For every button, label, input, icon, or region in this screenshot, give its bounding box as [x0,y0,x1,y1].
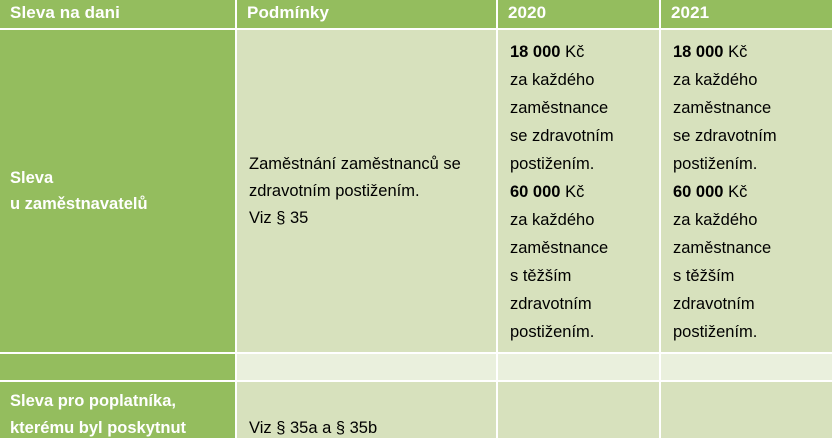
table-row: Sleva u zaměstnavatelů Zaměstnání zaměst… [0,30,832,354]
amount-secondary-desc-line-4: zdravotním [510,290,649,318]
row-label-line-2: u zaměstnavatelů [10,191,225,217]
table-header: Sleva na dani Podmínky 2020 2021 [0,0,832,30]
amount-secondary-desc-line-4: zdravotním [673,290,822,318]
column-header-tax-credit: Sleva na dani [0,0,237,30]
column-header-conditions: Podmínky [237,0,498,30]
amount-unit: Kč [728,43,747,61]
table-row-spacer [0,354,832,382]
amount-secondary-2020: 60 000 Kč [510,178,649,206]
amount-value: 60 000 [510,183,560,201]
amount-value: 18 000 [510,43,560,61]
spacer-cell-2020 [498,354,661,382]
spacer-cell-2021 [661,354,832,382]
cell-amount-2020-empty [498,382,661,438]
row-conditions-investment-incentive: Viz § 35a a § 35b [237,382,498,438]
spacer-cell-conditions [237,354,498,382]
amount-secondary-desc-line-1: za každého [510,206,649,234]
header-row: Sleva na dani Podmínky 2020 2021 [0,0,832,30]
column-header-year-2020: 2020 [498,0,661,30]
amount-primary-desc-line-3: se zdravotním [673,122,822,150]
amount-primary-desc-line-1: za každého [673,66,822,94]
amount-primary-desc-line-4: postižením. [510,150,649,178]
row-conditions-employer-credit: Zaměstnání zaměstnanců se zdravotním pos… [237,30,498,354]
row-label-line-2: kterému byl poskytnut [10,415,225,438]
amount-primary-desc-line-3: se zdravotním [510,122,649,150]
row-label-line-1: Sleva pro poplatníka, [10,388,225,415]
conditions-line-2: zdravotním postižením. [249,178,484,205]
table-body: Sleva u zaměstnavatelů Zaměstnání zaměst… [0,30,832,438]
conditions-line-1: Zaměstnání zaměstnanců se [249,151,484,178]
amount-unit: Kč [565,183,584,201]
conditions-line-3: Viz § 35 [249,205,484,232]
amount-primary-desc-line-1: za každého [510,66,649,94]
table-row: Sleva pro poplatníka, kterému byl poskyt… [0,382,832,438]
amount-secondary-desc-line-3: s těžším [673,262,822,290]
tax-credit-table: Sleva na dani Podmínky 2020 2021 Sleva u… [0,0,832,438]
cell-amount-2021-empty [661,382,832,438]
spacer-cell-label [0,354,237,382]
row-label-employer-credit: Sleva u zaměstnavatelů [0,30,237,354]
tax-credit-table-container: Sleva na dani Podmínky 2020 2021 Sleva u… [0,0,835,438]
amount-secondary-desc-line-3: s těžším [510,262,649,290]
amount-secondary-desc-line-1: za každého [673,206,822,234]
amount-primary-2020: 18 000 Kč [510,38,649,66]
row-label-line-1: Sleva [10,165,225,191]
amount-primary-desc-line-2: zaměstnance [510,94,649,122]
amount-secondary-desc-line-5: postižením. [673,318,822,346]
amount-secondary-desc-line-2: zaměstnance [673,234,822,262]
column-header-year-2021: 2021 [661,0,832,30]
amount-unit: Kč [565,43,584,61]
amount-unit: Kč [728,183,747,201]
amount-value: 60 000 [673,183,723,201]
cell-amount-2021: 18 000 Kč za každého zaměstnance se zdra… [661,30,832,354]
cell-amount-2020: 18 000 Kč za každého zaměstnance se zdra… [498,30,661,354]
amount-secondary-desc-line-5: postižením. [510,318,649,346]
amount-value: 18 000 [673,43,723,61]
row-label-investment-incentive: Sleva pro poplatníka, kterému byl poskyt… [0,382,237,438]
amount-secondary-2021: 60 000 Kč [673,178,822,206]
amount-primary-desc-line-4: postižením. [673,150,822,178]
amount-primary-desc-line-2: zaměstnance [673,94,822,122]
amount-primary-2021: 18 000 Kč [673,38,822,66]
amount-secondary-desc-line-2: zaměstnance [510,234,649,262]
